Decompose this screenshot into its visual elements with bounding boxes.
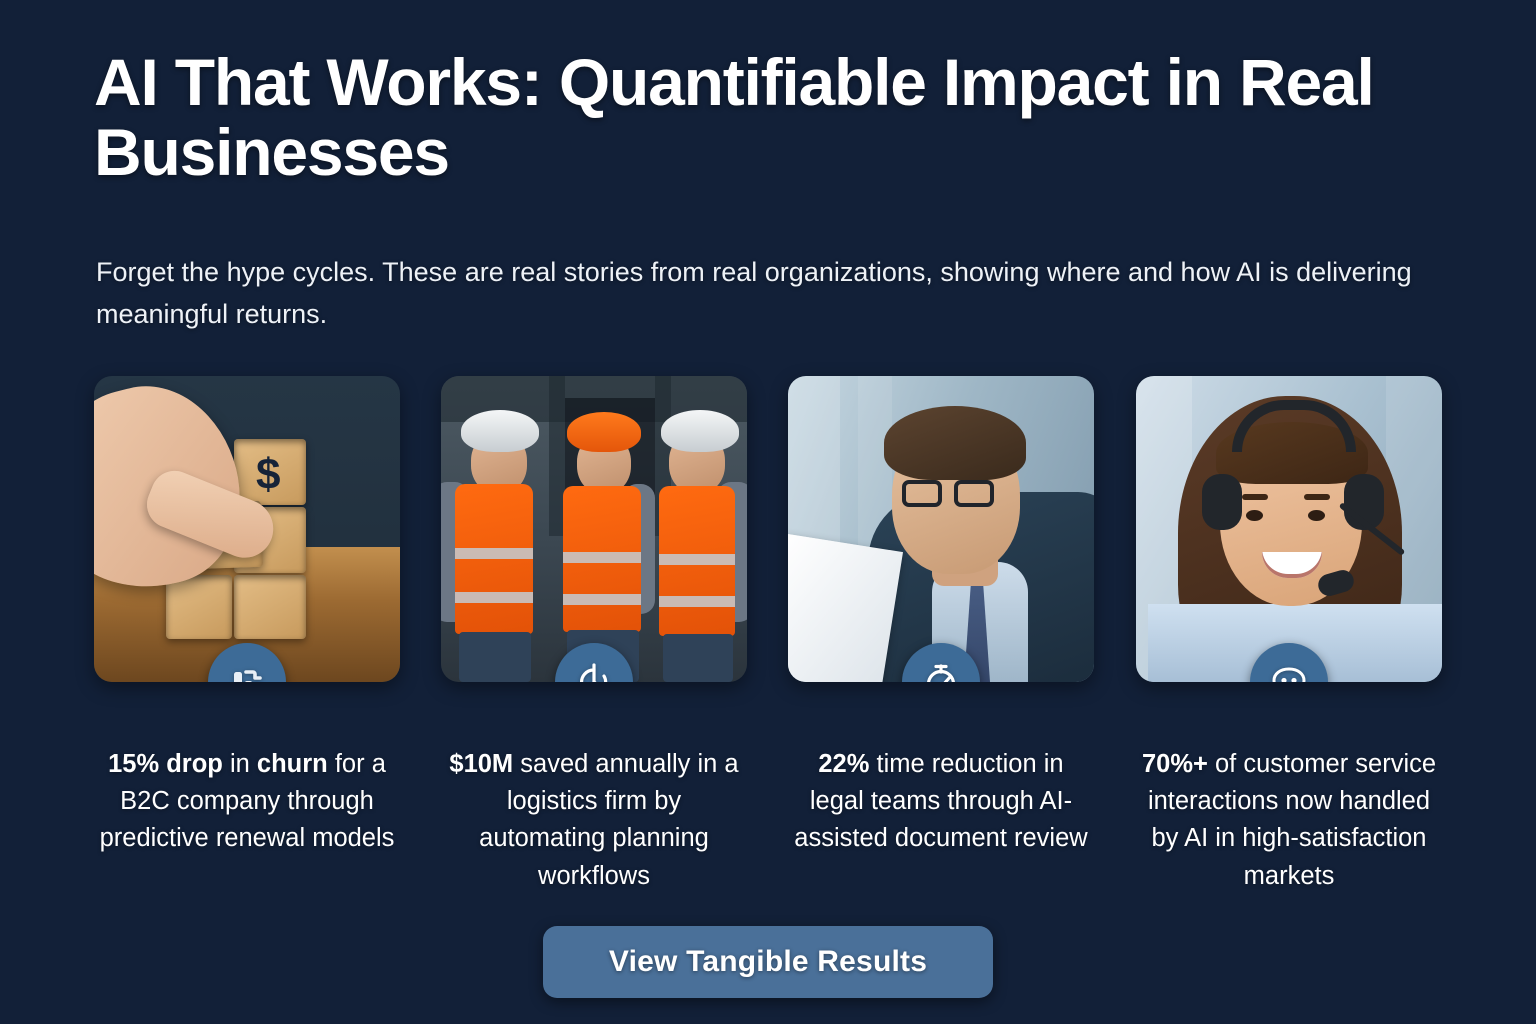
stat-card[interactable]: 22% time reduction in legal teams throug… — [788, 376, 1094, 858]
card-caption: 15% drop in churn for a B2C company thro… — [94, 746, 400, 858]
infographic-root: AI That Works: Quantifiable Impact in Re… — [0, 0, 1536, 1024]
stat-card[interactable]: $ ↘ — [94, 376, 400, 858]
card-image: $ ↘ — [94, 376, 400, 682]
construction-workers-photo — [441, 376, 747, 682]
card-image — [441, 376, 747, 682]
card-image — [788, 376, 1094, 682]
view-tangible-results-button[interactable]: View Tangible Results — [543, 926, 993, 998]
page-title: AI That Works: Quantifiable Impact in Re… — [94, 48, 1464, 188]
call-center-agent-photo — [1136, 376, 1442, 682]
wooden-blocks-photo: $ ↘ — [94, 376, 400, 682]
page-subtitle: Forget the hype cycles. These are real s… — [96, 252, 1416, 336]
businessman-reading-photo — [788, 376, 1094, 682]
stat-card[interactable]: 70%+ of customer service interactions no… — [1136, 376, 1442, 895]
card-caption: $10M saved annually in a logistics firm … — [441, 746, 747, 895]
card-image — [1136, 376, 1442, 682]
stat-card[interactable]: $10M saved annually in a logistics firm … — [441, 376, 747, 895]
card-caption: 22% time reduction in legal teams throug… — [788, 746, 1094, 858]
card-caption: 70%+ of customer service interactions no… — [1136, 746, 1442, 895]
